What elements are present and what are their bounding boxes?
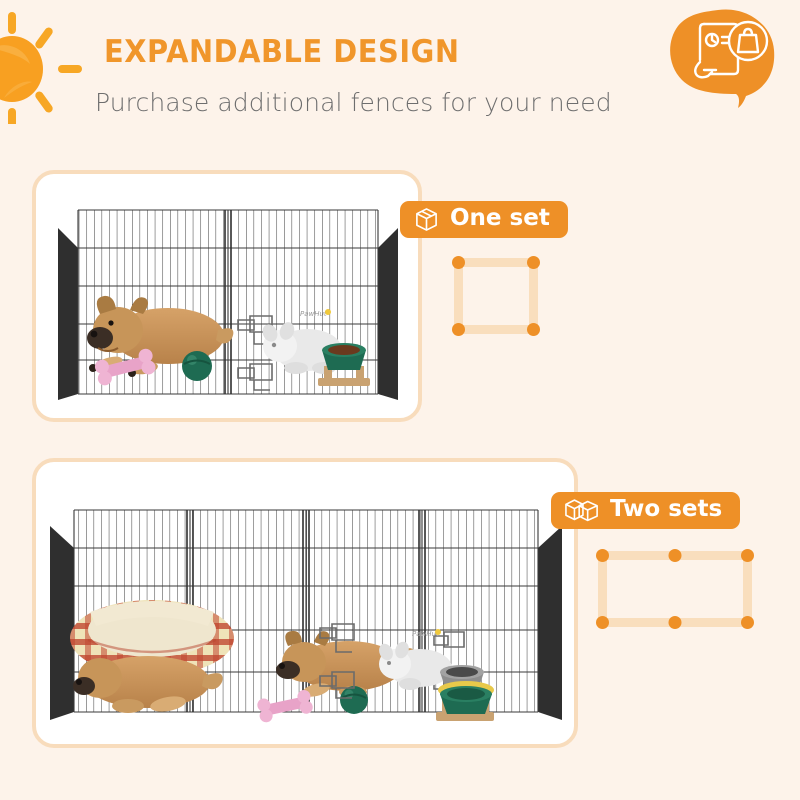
page-subtitle: Purchase additional fences for your need <box>95 88 612 117</box>
green-ball-toy <box>340 686 368 714</box>
svg-text:PawHut: PawHut <box>300 310 327 318</box>
playpen-photo-one-set: PawHut <box>56 188 400 410</box>
svg-text:PawHut: PawHut <box>412 630 439 638</box>
mobile-shopping-bubble-icon <box>660 8 780 108</box>
badge-one-set: One set <box>400 201 568 238</box>
green-ball-toy <box>182 351 212 381</box>
page-title: EXPANDABLE DESIGN <box>104 34 460 70</box>
single-box-icon <box>414 207 439 232</box>
badge-two-sets: Two sets <box>551 492 740 529</box>
sun-icon <box>0 12 90 124</box>
schematic-one-set <box>448 252 544 340</box>
double-box-icon <box>565 498 599 523</box>
green-food-bowl <box>436 681 494 721</box>
header-banner: EXPANDABLE DESIGN Purchase additional fe… <box>0 0 800 150</box>
badge-one-set-label: One set <box>450 207 550 230</box>
badge-two-sets-label: Two sets <box>610 498 722 521</box>
playpen-photo-two-sets: PawHut <box>48 490 564 730</box>
schematic-two-sets <box>592 545 758 633</box>
